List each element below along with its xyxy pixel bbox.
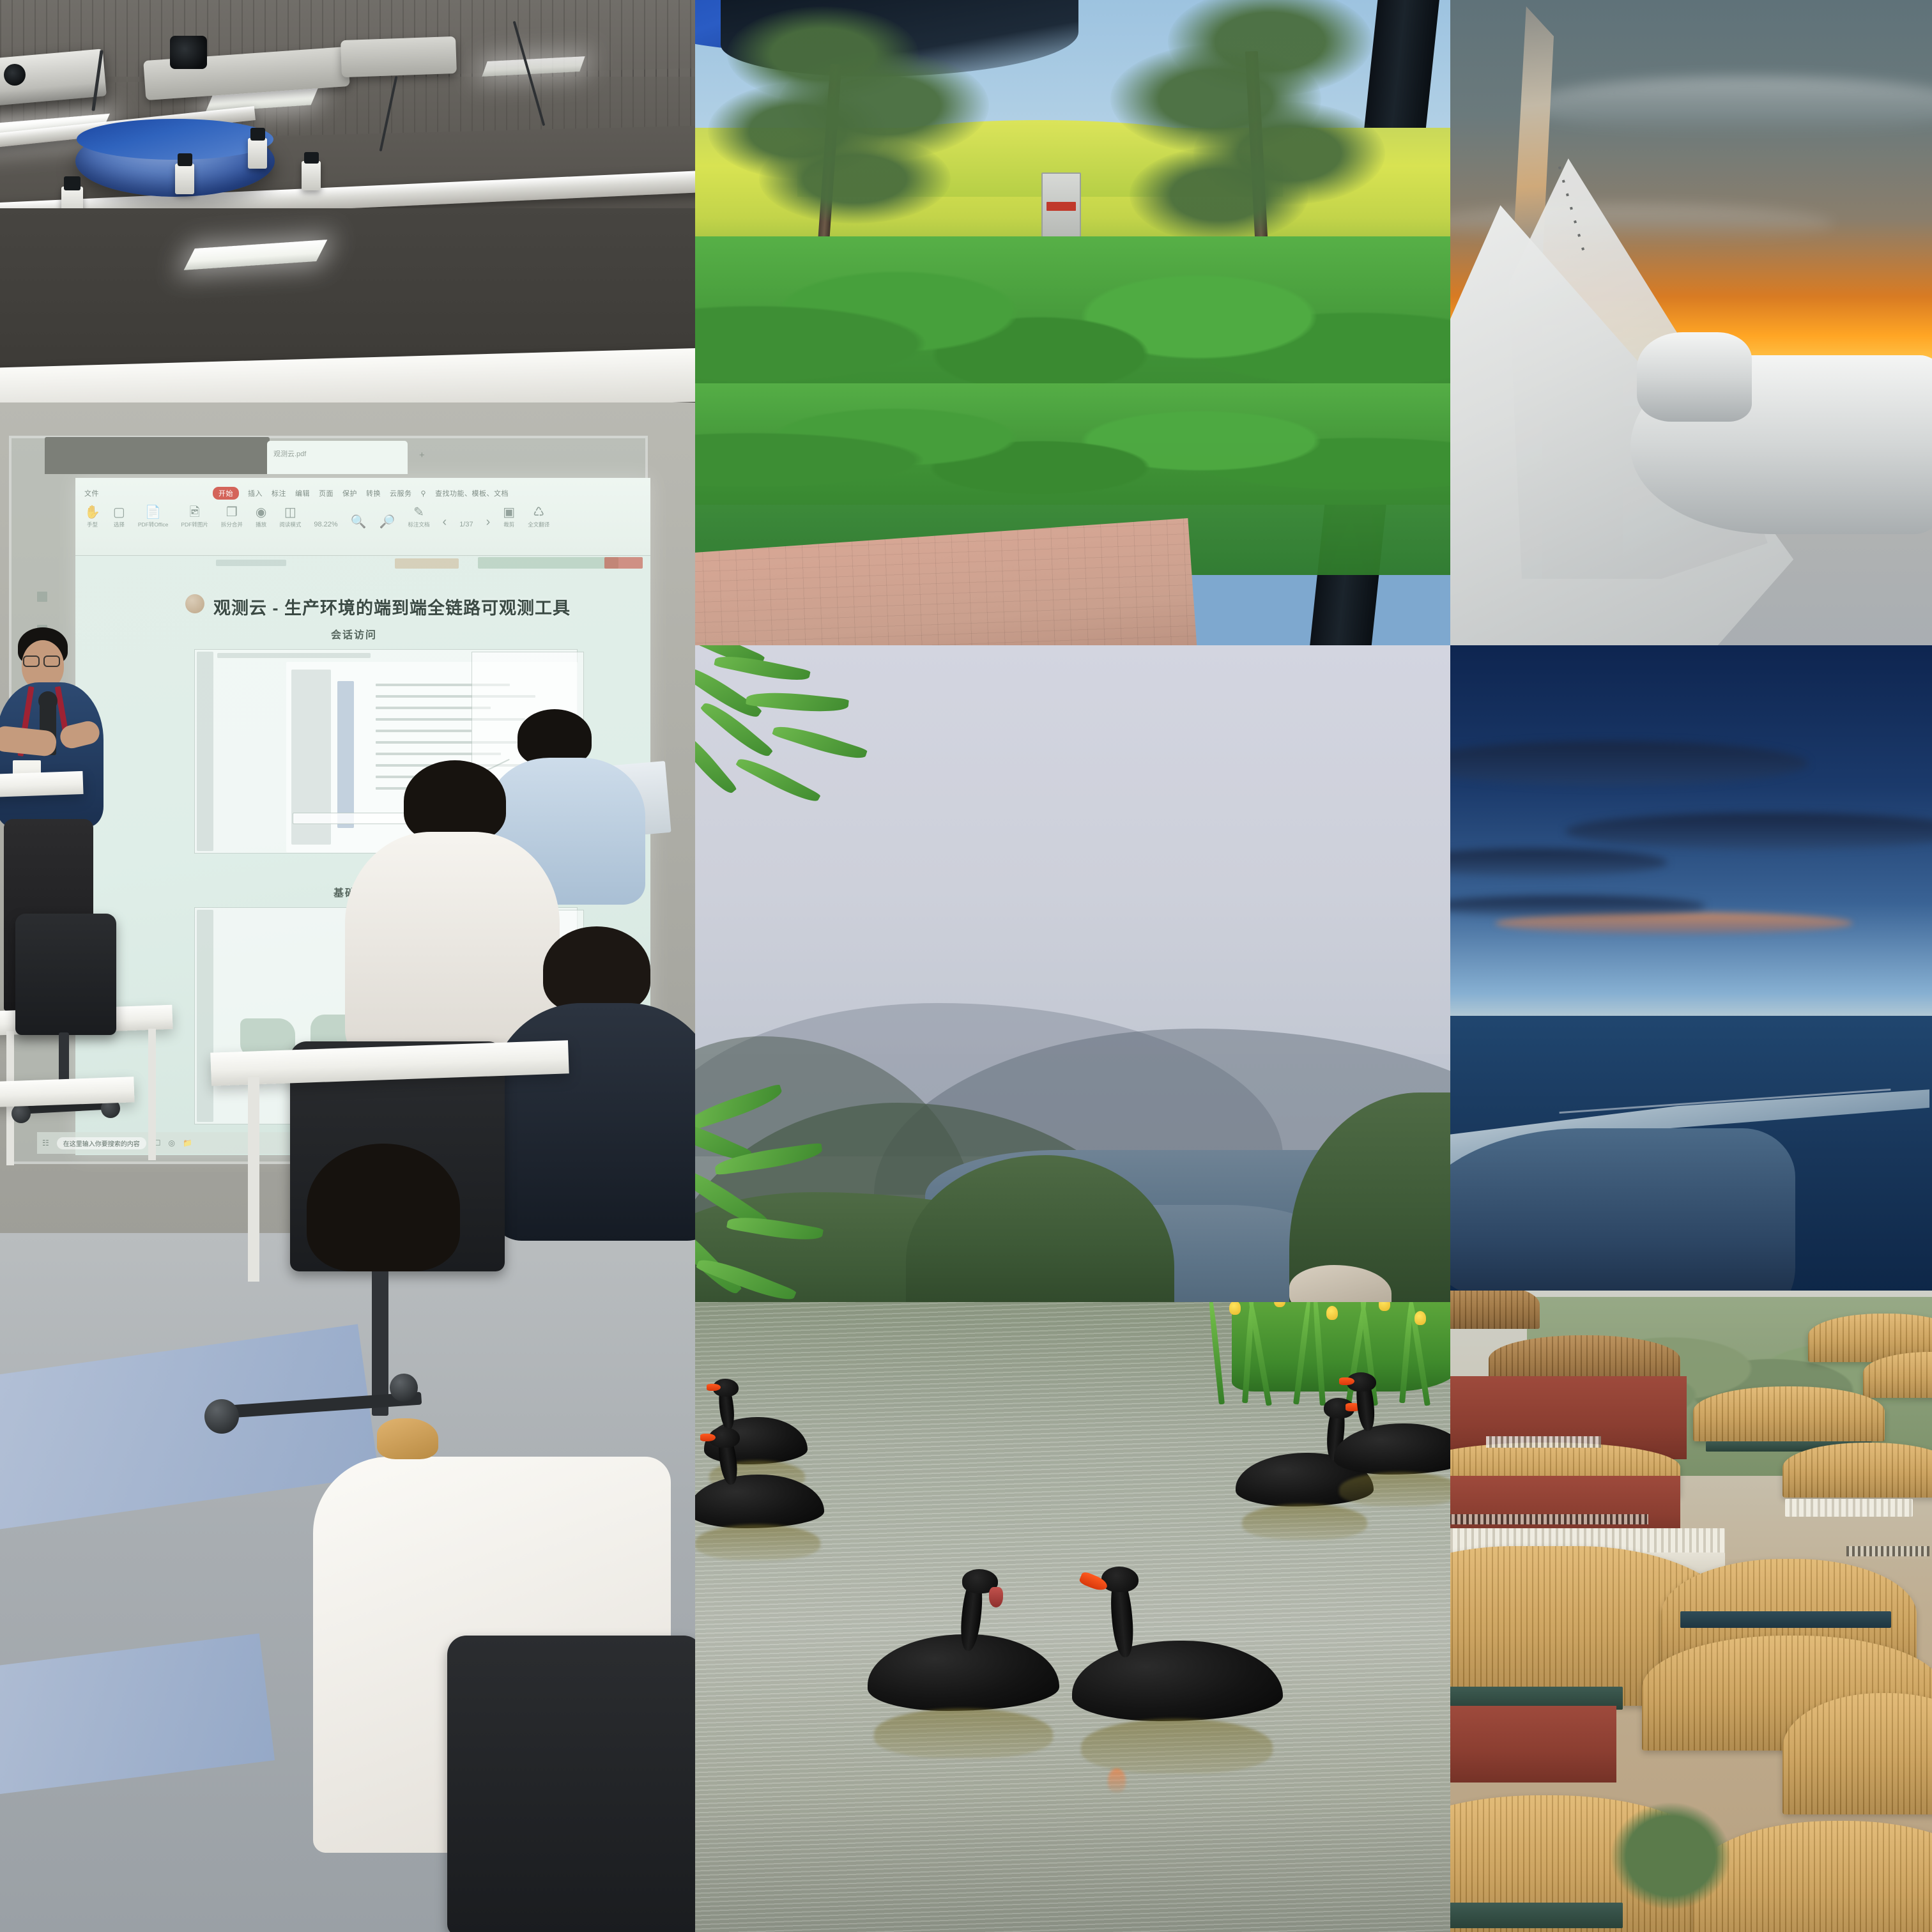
presenter-side-table	[0, 771, 84, 798]
menu-item-page[interactable]: 页面	[319, 488, 333, 498]
marble-balustrade-right	[1785, 1499, 1913, 1517]
office-chair-mid-caster-2	[390, 1374, 418, 1402]
page-prev-icon[interactable]: ‹	[443, 516, 447, 528]
photo-wing-sunset	[1450, 0, 1932, 645]
bottom-eave-green	[1450, 1903, 1623, 1928]
roof-foreground-center-eave	[1680, 1611, 1891, 1628]
pine-tree-left	[721, 6, 1002, 275]
pdf-window-titlebar	[45, 437, 270, 474]
audience-shoe	[377, 1418, 438, 1459]
ribbon-strip-beige	[395, 558, 459, 569]
photo-black-swans	[695, 1302, 1450, 1932]
engine-silhouette	[1450, 1128, 1795, 1291]
slide-title-bullet-icon	[185, 594, 204, 613]
desk-row-1-leg-right	[148, 1029, 156, 1160]
search-icon: ⚲	[421, 489, 427, 498]
swan-bill	[707, 1384, 721, 1391]
swan-body	[695, 1475, 824, 1528]
blue-acoustic-disc-top	[77, 119, 273, 160]
pine-left-frond-4	[759, 134, 951, 224]
slide-title: 观测云 - 生产环境的端到端全链路可观测工具	[213, 594, 571, 619]
swan-reflection	[1242, 1504, 1367, 1540]
photo-pine-rapeseed-field	[695, 0, 1450, 645]
reed-blade	[1293, 1302, 1313, 1405]
select-icon: ▢	[113, 506, 125, 519]
photo-blue-hour-flight	[1450, 645, 1932, 1291]
office-chair-mid-caster-1	[204, 1399, 239, 1434]
menu-item-home[interactable]: 开始	[213, 487, 239, 500]
duct-fan-icon	[170, 36, 207, 69]
visitor-crowd-balustrade	[1450, 1514, 1648, 1524]
pine-tree-right	[1091, 0, 1372, 275]
new-tab-icon[interactable]: +	[419, 450, 425, 461]
iris-flower	[1229, 1302, 1241, 1315]
tool-translate[interactable]: ♺ 全文翻译	[528, 506, 549, 528]
swan-body	[1072, 1641, 1283, 1721]
audience-person-dark-shirt	[505, 926, 695, 1227]
pdf-search-input[interactable]: 查找功能、模板、文档	[435, 488, 509, 498]
layout-icon: ◫	[279, 506, 301, 519]
audience-dark-hair	[543, 926, 650, 1013]
reed-blade	[1312, 1302, 1326, 1406]
office-chair-left-caster-1	[11, 1104, 31, 1123]
swan-bill	[1339, 1377, 1354, 1385]
dashboard-mock-header	[217, 653, 371, 658]
roof-background-left	[1450, 1291, 1540, 1329]
tool-hand[interactable]: ✋ 手型	[84, 506, 100, 528]
ribbon-strip-green	[478, 557, 618, 569]
iris-flower	[1379, 1302, 1390, 1311]
photo-collage-grid: 观测云.pdf + 文件 开始 插入 标注 编辑 页面 保护 转换 云服务 ⚲ …	[0, 0, 1932, 1932]
sidebar-icon-bookmark[interactable]	[37, 592, 47, 602]
taskbar-search-input[interactable]: 在这里输入你要搜索的内容	[57, 1137, 146, 1149]
photo-forbidden-city	[1450, 1291, 1932, 1932]
zoom-in-icon[interactable]: 🔎	[379, 516, 395, 528]
page-next-icon[interactable]: ›	[486, 516, 491, 528]
swan-bill	[700, 1434, 716, 1441]
pdf-to-image-icon: 🖻	[181, 506, 208, 519]
edge-icon[interactable]: ◎	[169, 1138, 175, 1147]
pdf-tab-label: 观测云.pdf	[273, 448, 306, 459]
iris-flower	[1274, 1302, 1285, 1307]
pdf-menu-row: 文件 开始 插入 标注 编辑 页面 保护 转换 云服务 ⚲ 查找功能、模板、文档	[84, 487, 634, 500]
projector-lens	[4, 64, 26, 86]
swan-bill-reflection	[1108, 1768, 1126, 1793]
annotate-icon: ✎	[408, 506, 430, 519]
track-camera-mid-head	[178, 153, 192, 166]
menu-item-protect[interactable]: 保护	[342, 488, 357, 498]
photo-classroom-presentation: 观测云.pdf + 文件 开始 插入 标注 编辑 页面 保护 转换 云服务 ⚲ …	[0, 402, 695, 1932]
zoom-out-icon[interactable]: 🔍	[351, 516, 367, 528]
menu-item-convert[interactable]: 转换	[366, 488, 381, 498]
swan-body	[1334, 1423, 1450, 1475]
menu-item-edit[interactable]: 编辑	[295, 488, 310, 498]
explorer-icon[interactable]: 📁	[183, 1138, 192, 1147]
dashboard-mock-row	[376, 730, 471, 732]
visitor-crowd-upper	[1486, 1436, 1601, 1448]
swan-head	[1101, 1567, 1138, 1592]
bamboo-leaf	[695, 724, 737, 798]
visitor-crowd-right	[1846, 1546, 1929, 1556]
track-camera-right-head	[250, 128, 265, 141]
windows-icon[interactable]: ☷	[42, 1138, 49, 1147]
swan-reflection	[695, 1524, 820, 1560]
track-camera-mid	[175, 164, 194, 194]
swan-reflection	[1081, 1719, 1273, 1774]
track-camera-right	[248, 138, 267, 169]
merge-icon: ❐	[221, 506, 243, 519]
audience-near-hair	[307, 1144, 460, 1271]
cabinet-warning-label	[1046, 202, 1076, 211]
iris-flower	[1326, 1306, 1338, 1320]
menu-item-file[interactable]: 文件	[84, 488, 99, 498]
iris-flower	[1414, 1311, 1426, 1325]
audience-dark-torso	[489, 1003, 695, 1241]
tool-annotate[interactable]: ✎ 标注文档	[408, 506, 430, 528]
pdf-toolbar: ✋ 手型 ▢ 选择 📄 PDF转Office 🖻 PDF转图片 ❐ 拆分	[84, 506, 640, 528]
tool-select[interactable]: ▢ 选择	[113, 506, 125, 528]
swan-reflection	[1339, 1472, 1450, 1506]
swan-back-left-2	[695, 1427, 836, 1542]
pine-right-frond-4	[1130, 147, 1308, 243]
office-chair-near	[447, 1636, 695, 1932]
track-camera-far	[302, 161, 321, 190]
bamboo-foliage-top	[695, 645, 938, 824]
tool-play[interactable]: ◉ 播放	[256, 506, 266, 528]
menu-item-cloud[interactable]: 云服务	[390, 488, 412, 498]
hvac-duct-elbow	[341, 36, 457, 77]
roof-mid-right	[1693, 1386, 1885, 1441]
track-camera-left-head	[64, 176, 80, 190]
translate-icon: ♺	[528, 506, 549, 519]
engine-pylon	[1637, 332, 1752, 422]
menu-item-annotate[interactable]: 标注	[272, 488, 286, 498]
presenter-mic-grille	[38, 691, 57, 710]
bamboo-foliage-lower	[695, 1092, 912, 1302]
track-camera-far-head	[304, 152, 319, 164]
ribbon-badge-red[interactable]	[604, 557, 643, 569]
menu-item-insert[interactable]: 插入	[248, 488, 263, 498]
hand-icon: ✋	[84, 506, 100, 519]
bamboo-leaf	[735, 753, 821, 807]
tool-layout[interactable]: ◫ 阅读模式	[279, 506, 301, 528]
zoom-level[interactable]: 98.22%	[314, 519, 337, 528]
infra-mock-nav	[197, 910, 213, 1122]
swan-center-right	[1053, 1558, 1296, 1749]
roof-foreground-left-body	[1450, 1706, 1616, 1782]
audience-white-mid-hair	[404, 760, 506, 842]
presenter-glasses-right	[43, 655, 60, 667]
audience-blue-hair	[517, 709, 592, 765]
slide-section-label-1: 会话访问	[331, 626, 377, 641]
office-chair-left	[15, 914, 116, 1035]
pdf-to-office-icon: 📄	[138, 506, 169, 519]
crop-icon: ▣	[503, 506, 515, 519]
photo-ceiling-projector	[0, 0, 695, 402]
swan-far-right	[1328, 1372, 1450, 1494]
tool-pdf-to-office[interactable]: 📄 PDF转Office	[138, 506, 169, 528]
dashboard-mock-nav	[197, 652, 213, 851]
photo-misty-mountain-lake	[695, 645, 1450, 1302]
swan-bill	[989, 1587, 1003, 1607]
courtyard-tree	[1610, 1802, 1731, 1910]
page-indicator: 1/37	[459, 519, 473, 528]
desk-row-3-leg	[248, 1077, 259, 1282]
play-icon: ◉	[256, 506, 266, 519]
swan-center-left	[868, 1558, 1078, 1743]
tool-crop[interactable]: ▣ 裁剪	[503, 506, 515, 528]
tool-merge[interactable]: ❐ 拆分合并	[221, 506, 243, 528]
tool-pdf-to-image[interactable]: 🖻 PDF转图片	[181, 506, 208, 528]
swan-reflection	[874, 1708, 1053, 1758]
presenter-glasses-left	[23, 655, 40, 667]
ribbon-strip-left	[216, 560, 286, 566]
roof-mid-right-2	[1782, 1443, 1932, 1498]
bamboo-leaf	[772, 720, 868, 764]
